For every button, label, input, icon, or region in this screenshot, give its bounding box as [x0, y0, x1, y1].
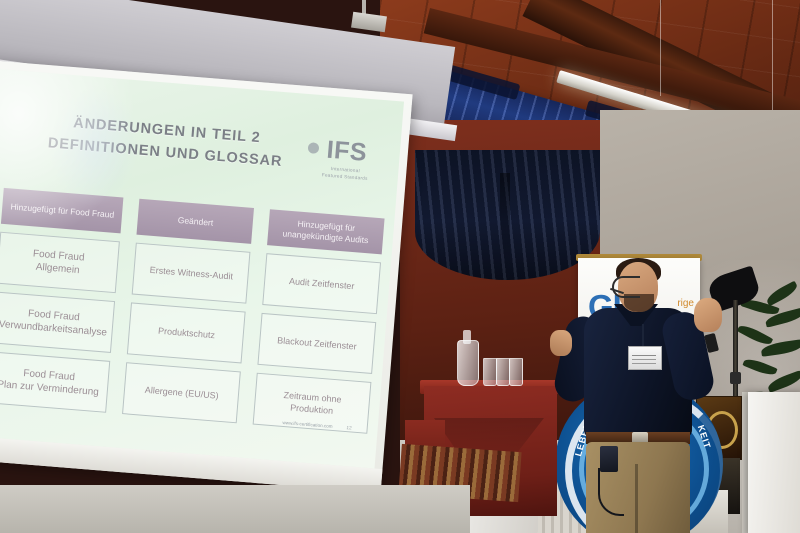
table-row: Blackout Zeitfenster — [258, 313, 377, 374]
slide-page-number: 12 — [346, 425, 352, 430]
slide-comparison-table: Hinzugefügt für Food Fraud Geändert Hinz… — [0, 188, 385, 434]
table-row: Erstes Witness-Audit — [132, 243, 251, 304]
table-header-col-2: Geändert — [137, 199, 254, 244]
cell-line-2: Allgemein — [35, 262, 80, 276]
table-row: Food Fraud Verwundbarkeitsanalyse — [0, 292, 115, 353]
screen-glare-secondary — [45, 84, 144, 211]
name-badge — [628, 346, 662, 370]
cell-line-1: Food Fraud — [28, 308, 80, 323]
table-row: Food Fraud Plan zur Verminderung — [0, 351, 111, 412]
floor — [0, 485, 470, 533]
lectern — [748, 392, 800, 533]
screen-mount-bracket — [351, 12, 387, 33]
badge-lanyard — [642, 324, 644, 348]
cell-line-1: Food Fraud — [33, 248, 85, 263]
presenter — [556, 250, 736, 533]
table-row: Allergene (EU/US) — [122, 362, 241, 423]
headset-microphone-icon — [612, 276, 640, 298]
table-row: Food Fraud Allgemein — [0, 232, 120, 293]
badge-text-lines — [632, 355, 656, 356]
cell-line-2: Plan zur Verminderung — [0, 379, 99, 398]
light-suspension-wire — [660, 0, 661, 96]
drinking-glass-2 — [496, 358, 510, 386]
presenter-right-hand — [694, 298, 722, 332]
table-header-col-3: Hinzugefügt für unangekündigte Audits — [267, 209, 384, 254]
table-row: Audit Zeitfenster — [262, 253, 381, 314]
projection-screen: ÄNDERUNGEN IN TEIL 2 DEFINITIONEN UND GL… — [0, 60, 413, 493]
water-carafe — [457, 340, 479, 386]
cell-line-2: Verwundbarkeitsanalyse — [0, 319, 107, 339]
cell-line-1: Food Fraud — [23, 368, 75, 383]
table-row: Produktschutz — [127, 303, 246, 364]
presenter-left-hand — [550, 330, 572, 356]
projected-slide: ÄNDERUNGEN IN TEIL 2 DEFINITIONEN UND GL… — [0, 69, 404, 469]
drinking-glass-3 — [509, 358, 523, 386]
light-suspension-wire-2 — [772, 0, 773, 118]
conference-room-scene: GL rige itiative e LEBEN KEIT — [0, 0, 800, 533]
drinking-glass-1 — [483, 358, 497, 386]
ifs-logo: IFS International Featured Standards — [302, 136, 377, 183]
